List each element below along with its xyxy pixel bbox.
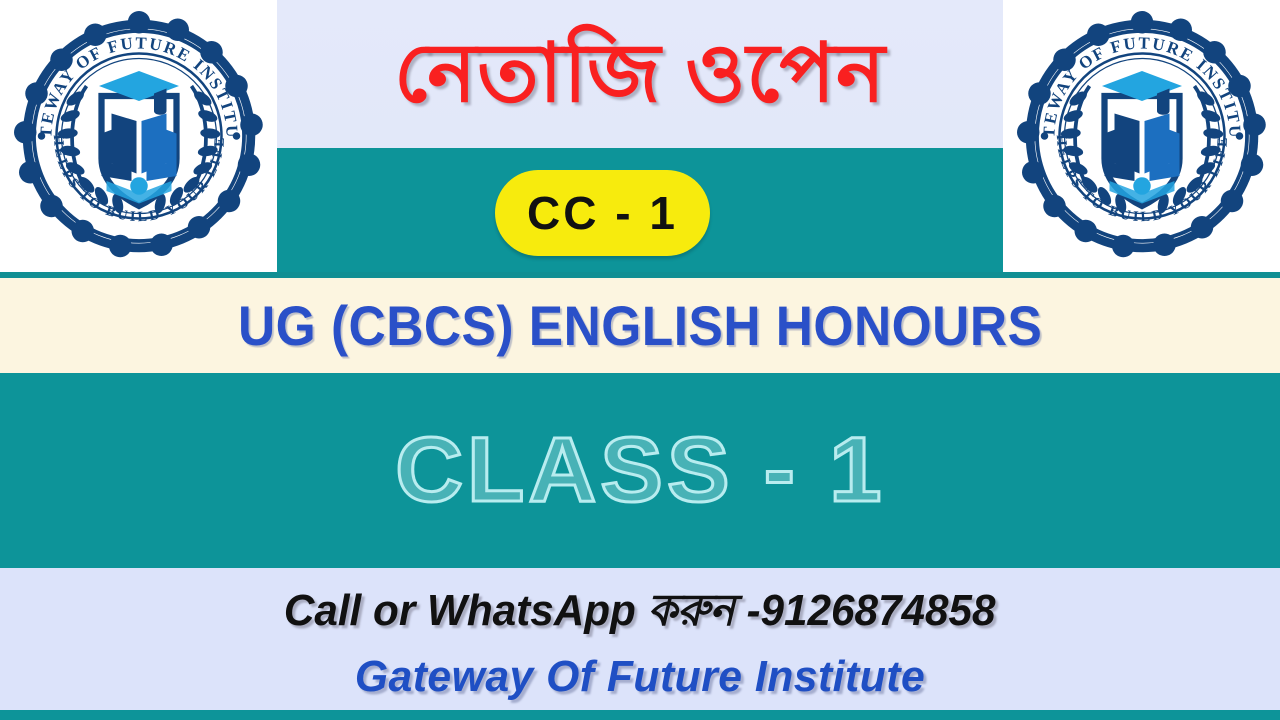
contact-phone-line: Call or WhatsApp করুন -9126874858 (284, 577, 996, 650)
programme-title: UG (CBCS) ENGLISH HONOURS (238, 293, 1042, 358)
contact-band: Call or WhatsApp করুন -9126874858 Gatewa… (0, 568, 1280, 710)
programme-band: UG (CBCS) ENGLISH HONOURS (0, 278, 1280, 373)
course-code-badge: CC - 1 (495, 170, 710, 256)
institute-name: Gateway Of Future Institute (355, 652, 925, 702)
institute-logo-left: GATEWAY OF FUTURE INSTITUTE HELPS TO BUI… (0, 0, 277, 272)
footer-strip (0, 710, 1280, 720)
institute-seal-icon: GATEWAY OF FUTURE INSTITUTE HELPS TO BUI… (14, 11, 264, 261)
class-label: CLASS - 1 (395, 418, 885, 523)
slide-title-bengali: নেতাজি ওপেন (277, 0, 1003, 148)
institute-logo-right: GATEWAY OF FUTURE INSTITUTE HELPS TO BUI… (1003, 0, 1280, 272)
class-band: CLASS - 1 (0, 373, 1280, 568)
institute-seal-icon: GATEWAY OF FUTURE INSTITUTE HELPS TO BUI… (1017, 11, 1267, 261)
presentation-slide: GATEWAY OF FUTURE INSTITUTE HELPS TO BUI… (0, 0, 1280, 720)
